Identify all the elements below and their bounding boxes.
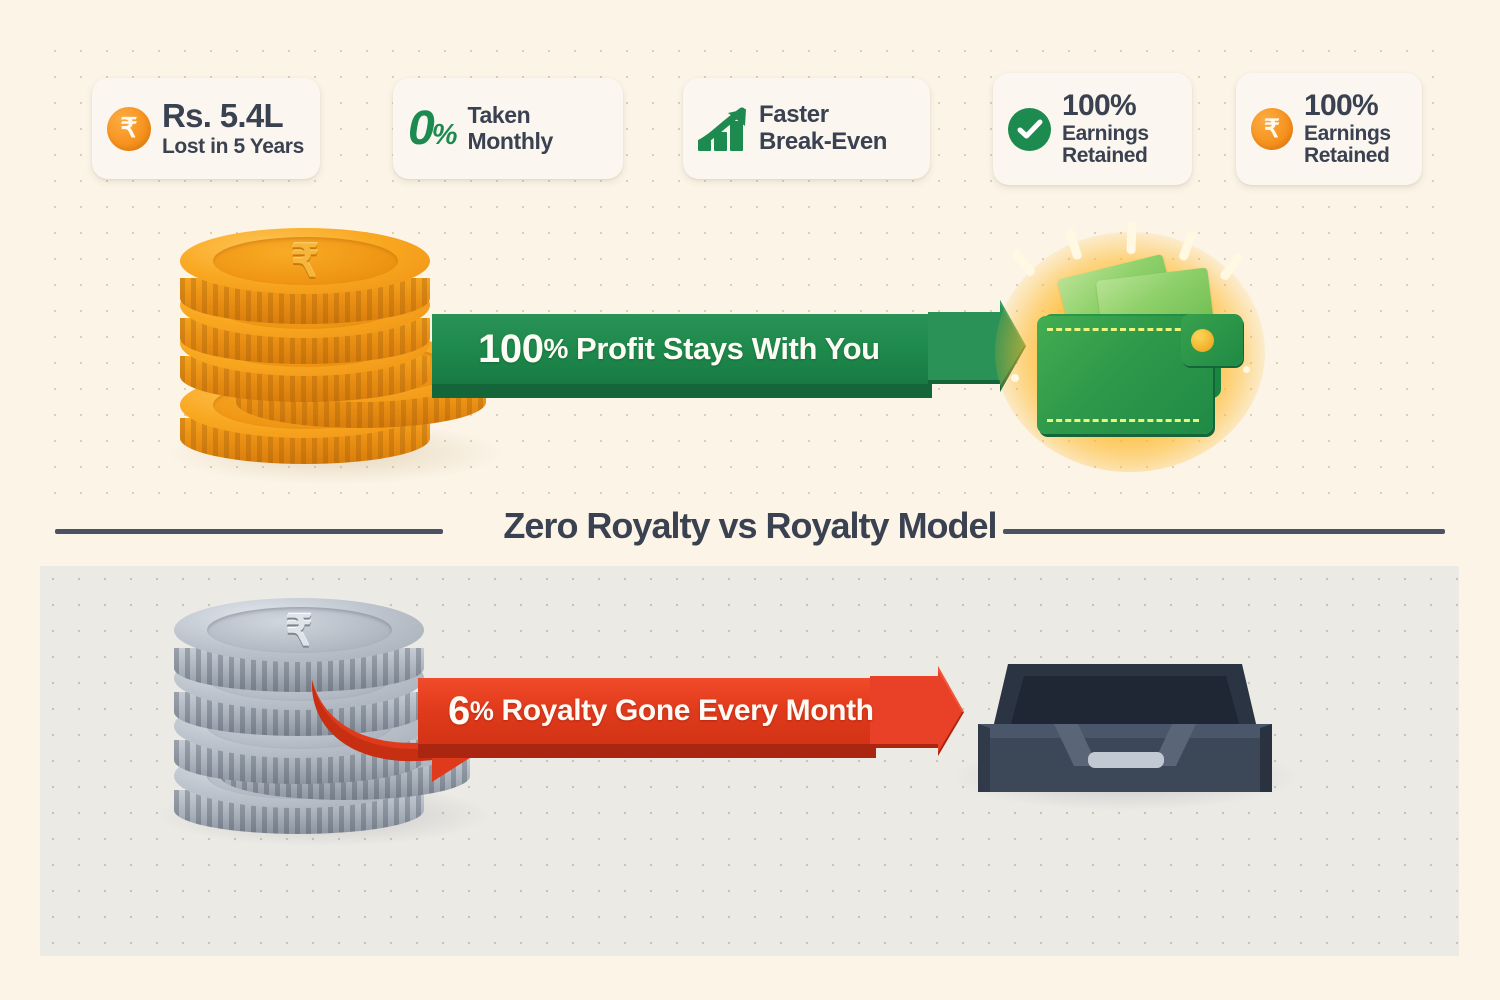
badge-headline: 100% bbox=[1304, 91, 1391, 122]
badge-subline-2: Break-Even bbox=[759, 130, 887, 154]
badge-subline-1: Earnings bbox=[1062, 123, 1149, 144]
arrow-number: 6 bbox=[448, 689, 470, 734]
percent-glyph: % bbox=[432, 119, 457, 152]
zero-percent-icon: 0 % bbox=[408, 101, 457, 156]
growth-chart-icon bbox=[698, 107, 748, 151]
badge-subline-2: Retained bbox=[1062, 145, 1149, 166]
zero-number: 0 bbox=[408, 101, 434, 156]
zero-royalty-scene: ₹ 100 % Profit Stays With You bbox=[0, 200, 1500, 500]
rupee-emboss: ₹ bbox=[180, 228, 430, 294]
rupee-glyph: ₹ bbox=[120, 113, 137, 144]
royalty-gone-arrow: 6 % Royalty Gone Every Month bbox=[418, 666, 964, 762]
arrow-text: Profit Stays With You bbox=[576, 331, 880, 367]
badge-earnings-retained-rupee[interactable]: ₹ 100% Earnings Retained bbox=[1236, 73, 1422, 185]
badge-subline-2: Retained bbox=[1304, 145, 1391, 166]
badge-headline: 100% bbox=[1062, 91, 1149, 122]
gold-rupee-coin-stack: ₹ bbox=[176, 228, 476, 466]
section-title: Zero Royalty vs Royalty Model bbox=[0, 505, 1500, 547]
section-divider: Zero Royalty vs Royalty Model bbox=[0, 505, 1500, 557]
benefit-badge-row: ₹ Rs. 5.4L Lost in 5 Years 0 % Taken Mon… bbox=[0, 0, 1500, 200]
arrow-percent: % bbox=[544, 333, 569, 365]
badge-zero-percent-taken[interactable]: 0 % Taken Monthly bbox=[393, 78, 623, 179]
rupee-coin-icon: ₹ bbox=[107, 107, 151, 151]
badge-faster-break-even[interactable]: Faster Break-Even bbox=[683, 78, 930, 179]
royalty-model-scene: ₹ 6 % Royalty Gone E bbox=[0, 566, 1500, 956]
rupee-emboss: ₹ bbox=[174, 598, 424, 662]
rupee-glyph: ₹ bbox=[1264, 114, 1280, 144]
arrow-percent: % bbox=[470, 696, 494, 727]
green-wallet-with-cash bbox=[985, 218, 1275, 476]
badge-subline-1: Earnings bbox=[1304, 123, 1391, 144]
badge-earnings-retained-check[interactable]: 100% Earnings Retained bbox=[993, 73, 1192, 185]
badge-subline: Lost in 5 Years bbox=[162, 136, 304, 157]
arrow-label: 100 % Profit Stays With You bbox=[478, 314, 928, 384]
badge-headline: Rs. 5.4L bbox=[162, 99, 304, 133]
wallet-clasp bbox=[1181, 314, 1243, 366]
arrow-label: 6 % Royalty Gone Every Month bbox=[448, 678, 878, 744]
profit-stays-arrow: 100 % Profit Stays With You bbox=[432, 300, 1026, 398]
arrow-number: 100 bbox=[478, 327, 544, 372]
rupee-coin-icon: ₹ bbox=[1251, 108, 1293, 150]
badge-subline-1: Taken bbox=[468, 104, 553, 127]
clasp-button-icon bbox=[1191, 329, 1214, 352]
infographic-canvas: ₹ Rs. 5.4L Lost in 5 Years 0 % Taken Mon… bbox=[0, 0, 1500, 1000]
empty-tray bbox=[960, 606, 1290, 826]
badge-subline-1: Faster bbox=[759, 103, 887, 127]
check-circle-icon bbox=[1008, 108, 1051, 151]
arrow-text: Royalty Gone Every Month bbox=[501, 694, 873, 728]
arrow-head-icon bbox=[870, 666, 964, 762]
badge-rupees-lost[interactable]: ₹ Rs. 5.4L Lost in 5 Years bbox=[92, 78, 320, 179]
badge-subline-2: Monthly bbox=[468, 130, 553, 153]
